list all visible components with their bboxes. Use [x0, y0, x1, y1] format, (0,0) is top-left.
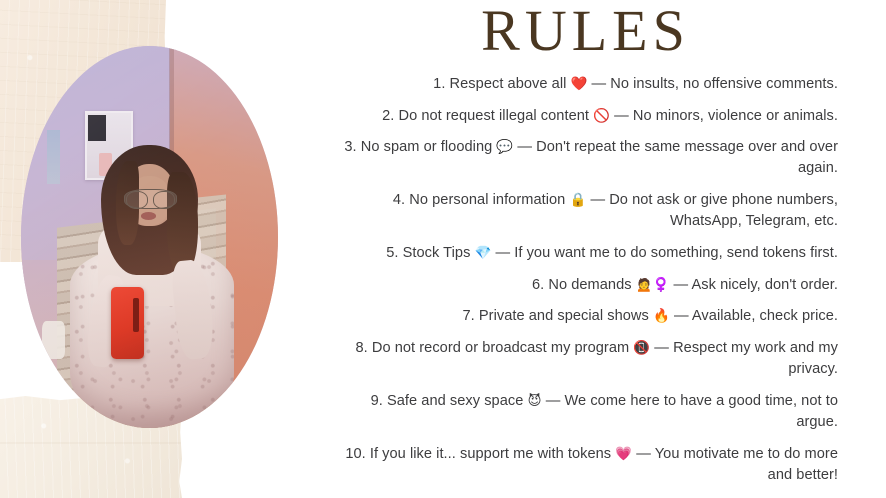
- rule-dash: —: [674, 308, 689, 324]
- rule-item: 6. No demands 🙍♀️ — Ask nicely, don't or…: [328, 275, 838, 296]
- rule-description: No insults, no offensive comments.: [610, 76, 838, 92]
- rule-label: Stock Tips: [403, 245, 471, 261]
- rule-item: 2. Do not request illegal content 🚫 — No…: [328, 106, 838, 127]
- rule-description: No minors, violence or animals.: [633, 108, 838, 124]
- lock-emoji: 🔒: [569, 192, 586, 208]
- rule-dash: —: [636, 446, 651, 462]
- rule-dash: —: [614, 108, 629, 124]
- rule-item: 4. No personal information 🔒 — Do not as…: [328, 190, 838, 232]
- rule-dash: —: [654, 340, 669, 356]
- portrait-photo: [21, 46, 278, 428]
- rule-label: No personal information: [409, 192, 565, 208]
- growing-heart-emoji: 💗: [615, 446, 632, 462]
- rule-dash: —: [496, 245, 511, 261]
- rule-number: 2.: [382, 108, 394, 124]
- rule-number: 9.: [371, 393, 383, 409]
- rule-label: No spam or flooding: [361, 139, 493, 155]
- shelf-object-dark: [88, 115, 106, 142]
- rules-content: RULES 1. Respect above all ❤️ — No insul…: [300, 0, 886, 498]
- rule-description: Respect my work and my privacy.: [673, 340, 838, 377]
- lips: [141, 212, 156, 220]
- rule-item: 7. Private and special shows 🔥 — Availab…: [328, 306, 838, 327]
- phone-camera: [133, 298, 140, 332]
- rule-label: No demands: [548, 277, 631, 293]
- rule-description: Don't repeat the same message over and o…: [536, 139, 838, 176]
- rule-item: 1. Respect above all ❤️ — No insults, no…: [328, 74, 838, 95]
- rule-number: 3.: [344, 139, 356, 155]
- rule-dash: —: [591, 76, 606, 92]
- rule-number: 6.: [532, 277, 544, 293]
- rule-label: Safe and sexy space: [387, 393, 523, 409]
- eyeglasses: [124, 189, 177, 209]
- rule-number: 7.: [462, 308, 474, 324]
- rule-item: 5. Stock Tips 💎 — If you want me to do s…: [328, 243, 838, 264]
- rule-label: Do not record or broadcast my program: [372, 340, 629, 356]
- rule-dash: —: [590, 192, 605, 208]
- handbag: [42, 321, 65, 359]
- page-title: RULES: [328, 0, 838, 60]
- rule-dash: —: [517, 139, 532, 155]
- portrait-scene: [21, 46, 278, 428]
- prohibited-emoji: 🚫: [593, 108, 610, 124]
- rule-label: Respect above all: [450, 76, 567, 92]
- speech-balloon-emoji: 💬: [496, 139, 513, 155]
- smiling-face-with-horns-emoji: 😈: [528, 393, 542, 409]
- no-mobile-phones-emoji: 📵: [633, 340, 650, 356]
- rule-description: Ask nicely, don't order.: [692, 277, 838, 293]
- person-pouting-female-sign-emoji: 🙍♀️: [636, 277, 670, 293]
- rule-description: Do not ask or give phone numbers, WhatsA…: [609, 192, 838, 229]
- gem-stone-emoji: 💎: [475, 245, 492, 261]
- rule-label: Do not request illegal content: [398, 108, 589, 124]
- red-heart-emoji: ❤️: [571, 76, 588, 92]
- red-phone: [111, 287, 144, 360]
- rule-item: 9. Safe and sexy space 😈 — We come here …: [328, 391, 838, 433]
- rule-description: You motivate me to do more and better!: [655, 446, 838, 483]
- rule-dash: —: [546, 393, 561, 409]
- rule-item: 8. Do not record or broadcast my program…: [328, 338, 838, 380]
- rule-item: 3. No spam or flooding 💬 — Don't repeat …: [328, 137, 838, 179]
- rule-number: 8.: [355, 340, 367, 356]
- doorway: [47, 130, 60, 183]
- rule-number: 5.: [386, 245, 398, 261]
- rule-description: Available, check price.: [692, 308, 838, 324]
- rules-card: RULES 1. Respect above all ❤️ — No insul…: [0, 0, 886, 498]
- rule-number: 10.: [345, 446, 365, 462]
- rule-number: 1.: [433, 76, 445, 92]
- rule-dash: —: [674, 277, 689, 293]
- rule-item: 10. If you like it... support me with to…: [328, 444, 838, 486]
- fire-emoji: 🔥: [653, 308, 670, 324]
- rules-list: 1. Respect above all ❤️ — No insults, no…: [328, 74, 838, 486]
- rule-label: If you like it... support me with tokens: [370, 446, 611, 462]
- rule-number: 4.: [393, 192, 405, 208]
- rule-label: Private and special shows: [479, 308, 649, 324]
- rule-description: If you want me to do something, send tok…: [514, 245, 838, 261]
- rule-description: We come here to have a good time, not to…: [565, 393, 839, 430]
